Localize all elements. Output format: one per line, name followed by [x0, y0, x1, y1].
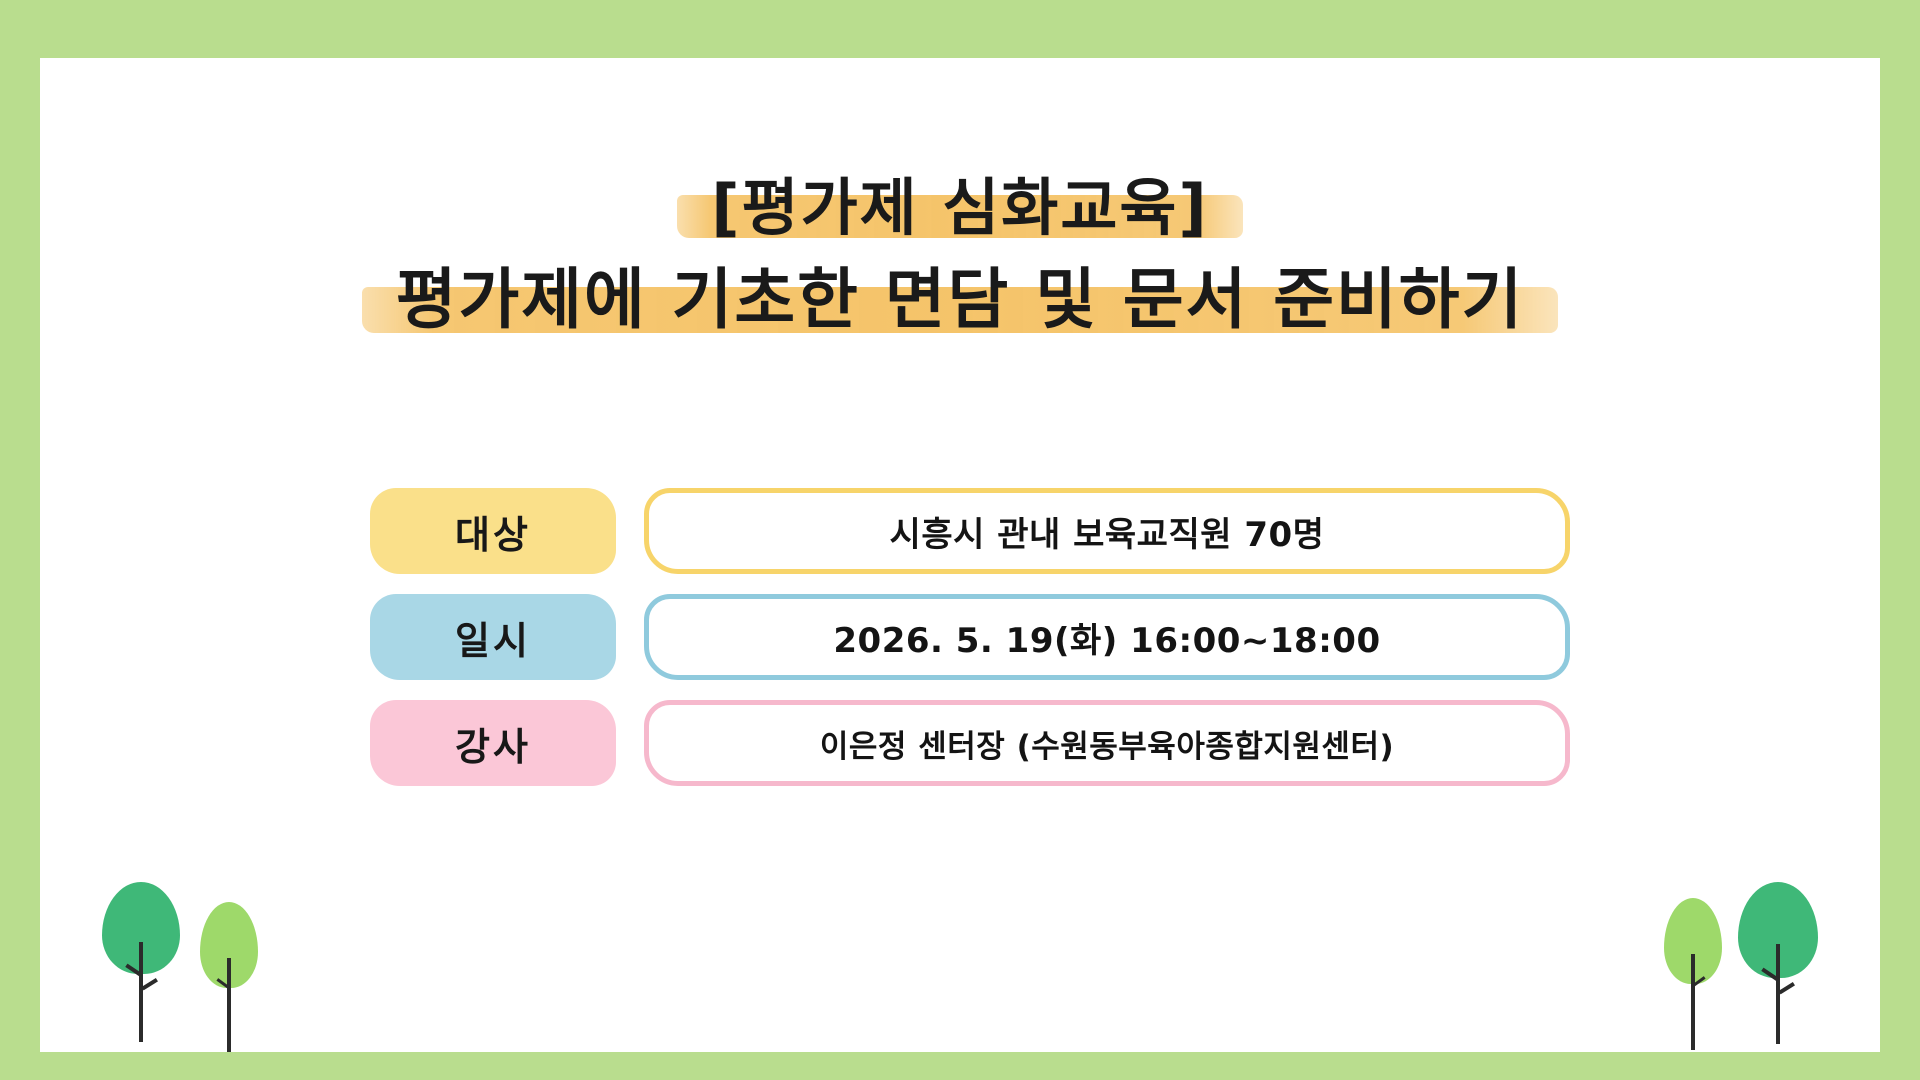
- tree-icon-left-dark: [102, 882, 180, 1042]
- frame-border-right: [1880, 0, 1920, 1080]
- info-value-target-text: 시흥시 관내 보육교직원 70명: [890, 507, 1325, 556]
- info-label-target: 대상: [370, 488, 616, 574]
- tree-branch: [1778, 982, 1794, 994]
- tree-icon-left-light: [200, 902, 258, 1052]
- poster-title: [평가제 심화교육] 평가제에 기초한 면담 및 문서 준비하기: [40, 168, 1880, 343]
- title-line-1-text: [평가제 심화교육]: [711, 171, 1209, 244]
- frame-border-bottom: [0, 1052, 1920, 1080]
- info-row-target: 대상 시흥시 관내 보육교직원 70명: [370, 488, 1570, 574]
- poster-canvas: [평가제 심화교육] 평가제에 기초한 면담 및 문서 준비하기 대상 시흥시 …: [0, 0, 1920, 1080]
- info-value-target: 시흥시 관내 보육교직원 70명: [644, 488, 1570, 574]
- tree-branch: [141, 978, 157, 990]
- info-value-instructor: 이은정 센터장 (수원동부육아종합지원센터): [644, 700, 1570, 786]
- info-label-target-text: 대상: [455, 504, 531, 559]
- tree-icon-right-dark: [1738, 882, 1818, 1044]
- poster-content-area: [평가제 심화교육] 평가제에 기초한 면담 및 문서 준비하기 대상 시흥시 …: [40, 58, 1880, 1052]
- tree-trunk: [139, 942, 143, 1042]
- title-line-2: 평가제에 기초한 면담 및 문서 준비하기: [396, 257, 1524, 343]
- frame-border-top: [0, 0, 1920, 58]
- info-value-datetime: 2026. 5. 19(화) 16:00~18:00: [644, 594, 1570, 680]
- info-value-datetime-text: 2026. 5. 19(화) 16:00~18:00: [833, 613, 1380, 662]
- frame-border-left: [0, 0, 40, 1080]
- info-value-instructor-text: 이은정 센터장 (수원동부육아종합지원센터): [820, 721, 1394, 766]
- title-line-1: [평가제 심화교육]: [711, 168, 1209, 247]
- title-line-2-text: 평가제에 기초한 면담 및 문서 준비하기: [396, 261, 1524, 338]
- info-label-datetime: 일시: [370, 594, 616, 680]
- info-label-datetime-text: 일시: [455, 610, 531, 665]
- info-table: 대상 시흥시 관내 보육교직원 70명 일시 2026. 5. 19(화) 16…: [370, 488, 1570, 786]
- info-row-instructor: 강사 이은정 센터장 (수원동부육아종합지원센터): [370, 700, 1570, 786]
- info-label-instructor: 강사: [370, 700, 616, 786]
- tree-trunk: [227, 958, 231, 1052]
- info-label-instructor-text: 강사: [455, 716, 531, 771]
- tree-icon-right-light: [1664, 898, 1722, 1050]
- info-row-datetime: 일시 2026. 5. 19(화) 16:00~18:00: [370, 594, 1570, 680]
- tree-trunk: [1691, 954, 1695, 1050]
